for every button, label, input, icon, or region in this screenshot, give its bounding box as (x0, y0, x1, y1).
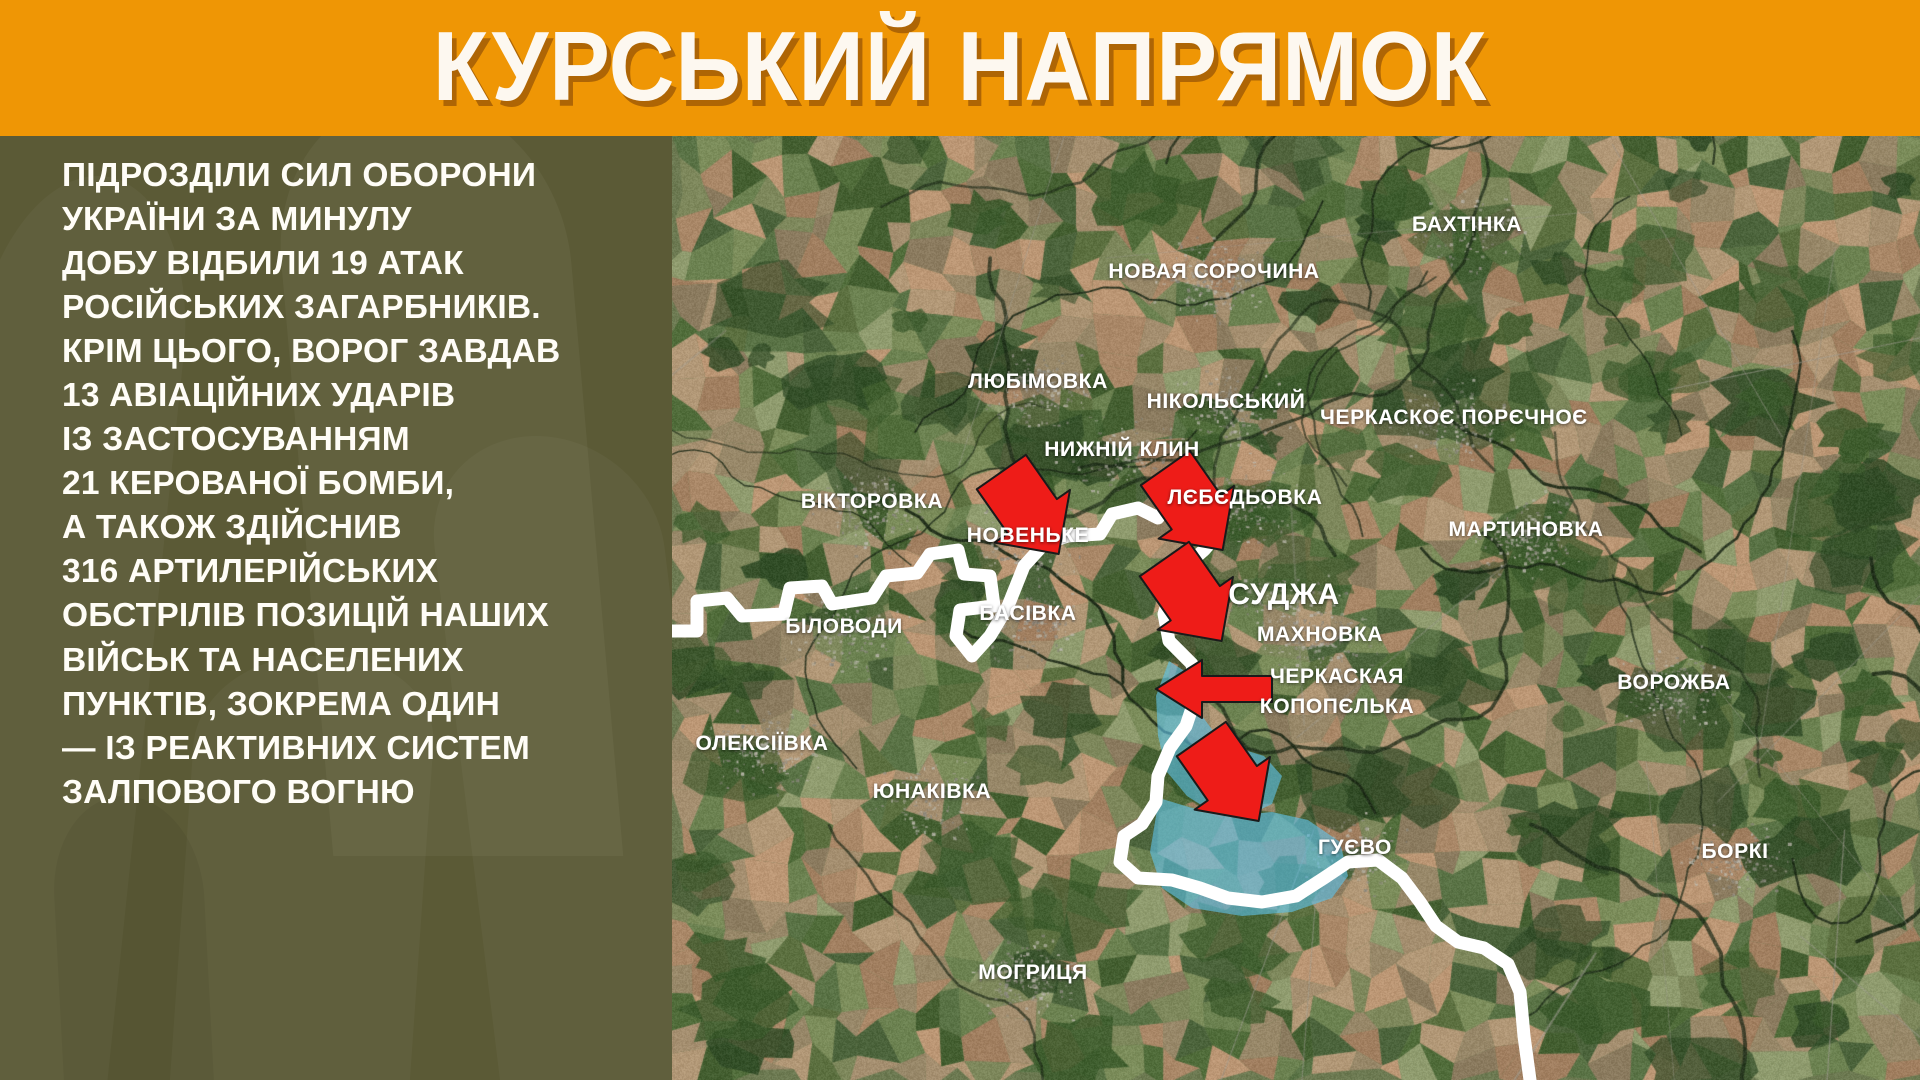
settlement-label: ГУЄВО (1318, 836, 1392, 859)
summary-text: ПІДРОЗДІЛИ СИЛ ОБОРОНИ УКРАЇНИ ЗА МИНУЛУ… (0, 136, 672, 815)
settlement-label: БОРКІ (1701, 840, 1768, 863)
settlement-label: БІЛОВОДИ (785, 615, 903, 638)
settlement-label: БАХТІНКА (1412, 213, 1522, 236)
settlement-label: НІКОЛЬСЬКИЙ (1147, 389, 1306, 413)
header-banner: КУРСЬКИЙ НАПРЯМОК (0, 0, 1920, 136)
settlement-label: ОЛЕКСІЇВКА (695, 732, 828, 755)
settlement-label: МАХНОВКА (1257, 623, 1383, 646)
settlement-label: НИЖНІЙ КЛИН (1044, 437, 1200, 461)
settlement-label: СУДЖА (1228, 578, 1340, 611)
settlement-label: ЮНАКІВКА (873, 780, 992, 803)
settlement-label: НОВЕНЬКЕ (967, 524, 1090, 547)
settlement-label: БАСІВКА (979, 602, 1076, 625)
map-area[interactable]: БАХТІНКАНОВАЯ СОРОЧИНАЛЮБІМОВКАНІКОЛЬСЬК… (672, 136, 1920, 1080)
infographic-root: КУРСЬКИЙ НАПРЯМОК ПІДРОЗДІЛИ СИЛ ОБОРОНИ… (0, 0, 1920, 1080)
map-overlay: БАХТІНКАНОВАЯ СОРОЧИНАЛЮБІМОВКАНІКОЛЬСЬК… (672, 136, 1920, 1080)
page-title: КУРСЬКИЙ НАПРЯМОК (433, 17, 1488, 119)
settlement-label: МАРТИНОВКА (1449, 518, 1604, 541)
settlement-label: ЧЕРКАСКАЯ (1270, 665, 1404, 688)
settlement-label: ЧЕРКАСКОЄ ПОРЄЧНОЄ (1320, 406, 1588, 429)
settlement-label: ЛЮБІМОВКА (968, 370, 1108, 393)
settlement-label: КОПОПЄЛЬКА (1260, 695, 1414, 718)
settlement-label: ВІКТОРОВКА (801, 490, 943, 513)
settlement-label: ВОРОЖБА (1617, 671, 1730, 694)
summary-panel: ПІДРОЗДІЛИ СИЛ ОБОРОНИ УКРАЇНИ ЗА МИНУЛУ… (0, 136, 672, 1080)
settlement-label: НОВАЯ СОРОЧИНА (1108, 260, 1319, 283)
settlement-label: МОГРИЦЯ (978, 961, 1087, 984)
frontline (672, 488, 1530, 1080)
settlement-label: ЛЄБЄДЬОВКА (1168, 486, 1323, 509)
